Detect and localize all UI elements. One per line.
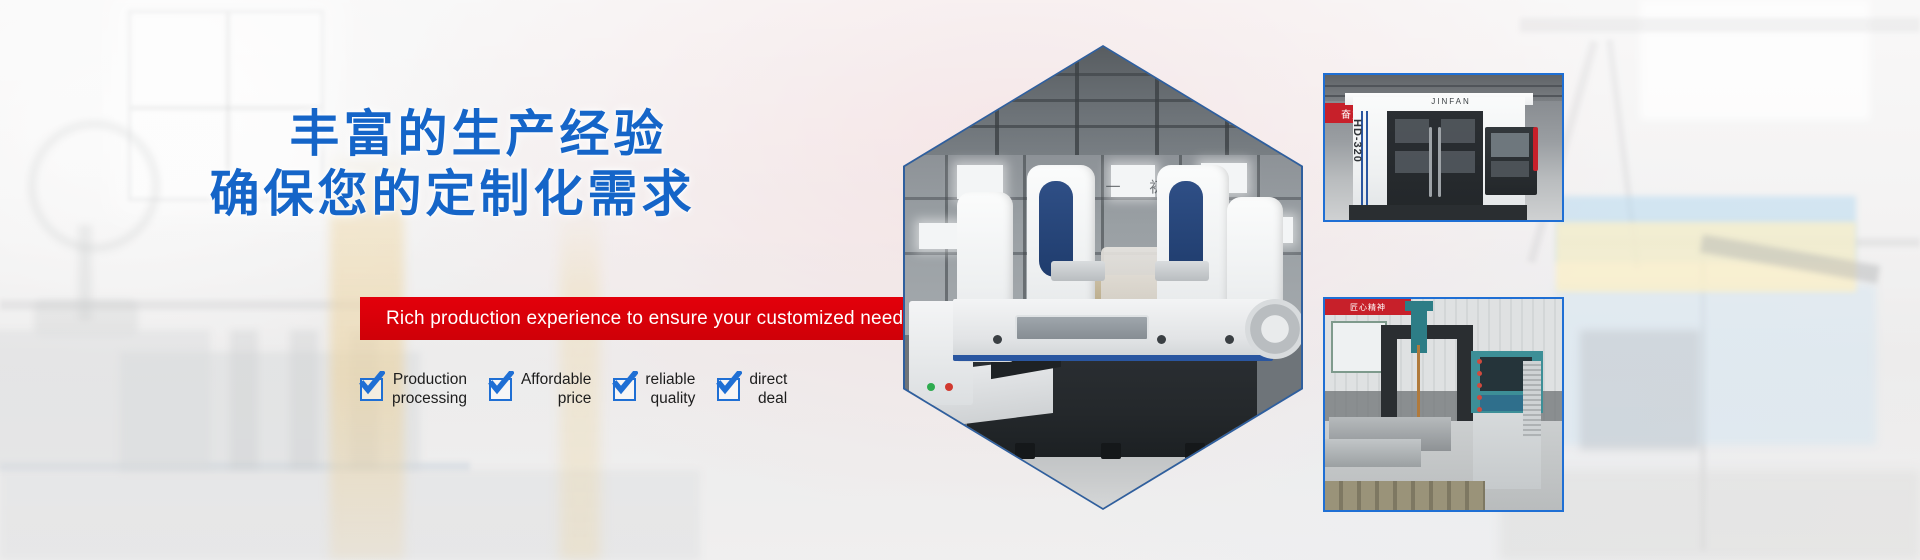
roof-purlin (1325, 85, 1562, 87)
control-button (1477, 395, 1482, 400)
factory-window (919, 223, 959, 249)
machine-accent-stripe (1366, 111, 1368, 207)
machine-knob (993, 335, 1002, 344)
checkmark-icon (360, 378, 383, 401)
hero-banner: 丰富的生产经验 确保您的定制化需求 Rich production experi… (0, 0, 1920, 560)
machine-foot (1101, 443, 1121, 459)
machine-spindle (1051, 261, 1105, 281)
control-button (1477, 359, 1482, 364)
subtitle-banner: Rich production experience to ensure you… (360, 297, 905, 340)
wall-banner: 匠心精神 (1325, 299, 1411, 315)
machine-gantry-post (1381, 329, 1397, 417)
machine-plinth (1349, 205, 1527, 220)
control-button (1477, 383, 1482, 388)
machine-model-label: HD-320 (1347, 119, 1363, 177)
feature-label-line-2: quality (645, 389, 695, 408)
machine-foot (1015, 443, 1035, 459)
feature-list: Production processing Affordable price (360, 370, 880, 422)
machine-brand-label: JINFAN (1421, 97, 1481, 107)
checkmark-icon (613, 378, 636, 401)
thumbnail-window (1331, 321, 1387, 373)
status-led-green (927, 383, 935, 391)
feature-label: reliable quality (645, 370, 695, 408)
control-button (1477, 371, 1482, 376)
machine-coil (1245, 299, 1301, 359)
door-handle (1438, 127, 1441, 197)
checkmark-icon (489, 378, 512, 401)
thumbnail-edm[interactable]: 匠心精神 (1323, 297, 1564, 512)
door-glass (1395, 151, 1429, 173)
control-screen (1491, 133, 1529, 157)
machine-knob (1157, 335, 1166, 344)
feature-label-line-2: deal (749, 389, 787, 408)
feature-label-line-1: Production (392, 370, 467, 389)
feature-item-reliable-quality[interactable]: reliable quality (613, 370, 695, 408)
machine-teal-head (1405, 301, 1433, 311)
machine-work-table (1325, 439, 1421, 467)
door-glass (1395, 119, 1429, 143)
feature-label: Production processing (392, 370, 467, 408)
feature-label-line-2: processing (392, 389, 467, 408)
roof-rafter (1075, 47, 1079, 159)
subtitle-text: Rich production experience to ensure you… (360, 308, 913, 330)
feature-label-line-1: Affordable (521, 370, 591, 389)
door-glass (1441, 119, 1475, 143)
door-handle (1429, 127, 1432, 197)
thumbnail-hd320[interactable]: 奋力 HD-320 JINFAN (1323, 73, 1564, 222)
machine-spindle (1155, 261, 1209, 281)
feature-item-production-processing[interactable]: Production processing (360, 370, 467, 408)
feature-label-line-1: direct (749, 370, 787, 389)
status-led-red (945, 383, 953, 391)
feature-item-affordable-price[interactable]: Affordable price (489, 370, 591, 408)
feature-item-direct-deal[interactable]: direct deal (717, 370, 787, 408)
door-glass (1441, 151, 1475, 173)
machine-red-accent (1533, 127, 1538, 171)
machine-viewport (1015, 315, 1149, 341)
control-keypad (1491, 161, 1529, 177)
wooden-pallet (1325, 481, 1485, 510)
control-button (1477, 407, 1482, 412)
checkmark-icon (717, 378, 740, 401)
feature-label: direct deal (749, 370, 787, 408)
machine-knob (1225, 335, 1234, 344)
feature-label-line-2: price (521, 389, 591, 408)
feature-label: Affordable price (521, 370, 591, 408)
feature-label-line-1: reliable (645, 370, 695, 389)
cabinet-vent (1523, 361, 1541, 437)
